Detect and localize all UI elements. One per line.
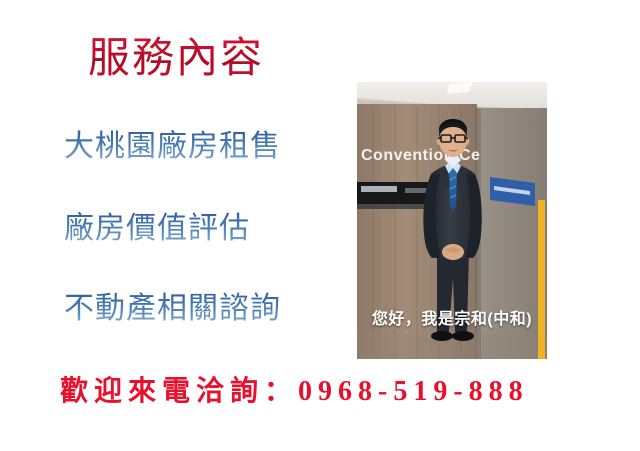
- portrait-photo: Convention Ce: [357, 82, 547, 359]
- slide-canvas: 服務內容 大桃園廠房租售 廠房價值評估 不動產相關諮詢: [0, 0, 640, 451]
- service-item-1: 廠房價值評估: [64, 212, 250, 247]
- page-title: 服務內容: [88, 36, 264, 82]
- contact-phone-line: 歡迎來電洽詢：0968-519-888: [60, 369, 529, 409]
- service-item-2: 不動產相關諮詢: [64, 292, 281, 327]
- portrait-photo-illustration: Convention Ce: [357, 82, 547, 359]
- service-item-0: 大桃園廠房租售: [64, 130, 281, 165]
